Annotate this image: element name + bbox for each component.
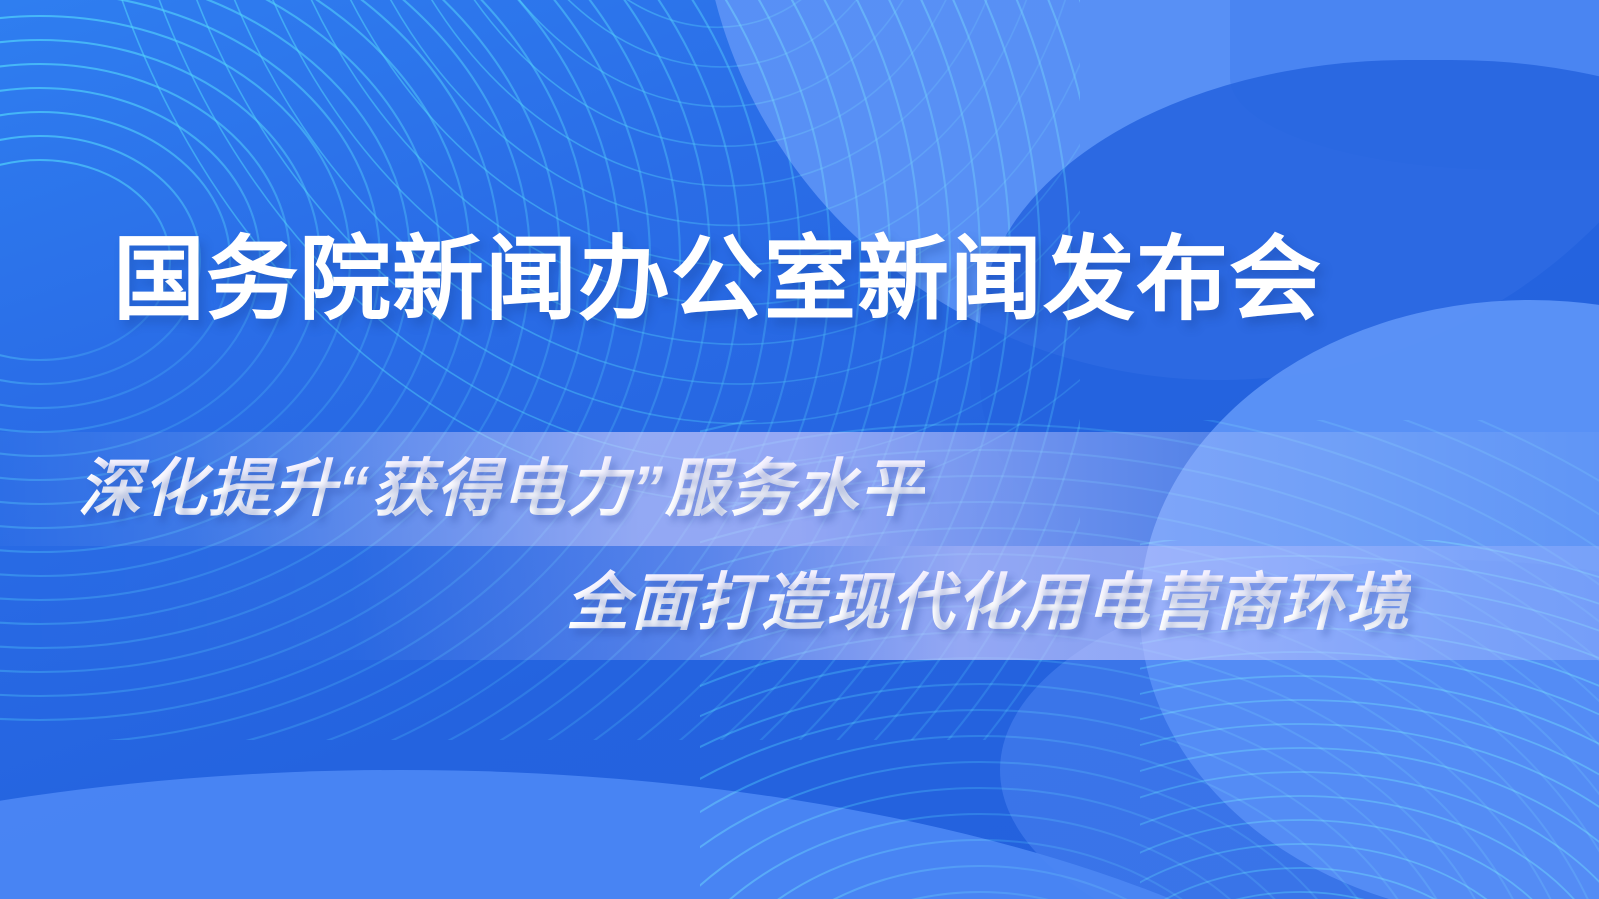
decorative-slab-top-right bbox=[1230, 0, 1599, 170]
subtitle-line-2: 全面打造现代化用电营商环境 bbox=[566, 546, 1411, 660]
page-title: 国务院新闻办公室新闻发布会 bbox=[113, 225, 1322, 335]
press-conference-poster: 国务院新闻办公室新闻发布会 深化提升“获得电力”服务水平 全面打造现代化用电营商… bbox=[0, 0, 1599, 899]
subtitle-line-2-text: 全面打造现代化用电营商环境 bbox=[566, 568, 1411, 638]
subtitle-line-1-text: 深化提升“获得电力”服务水平 bbox=[78, 454, 925, 524]
subtitle-line-1: 深化提升“获得电力”服务水平 bbox=[78, 432, 925, 546]
